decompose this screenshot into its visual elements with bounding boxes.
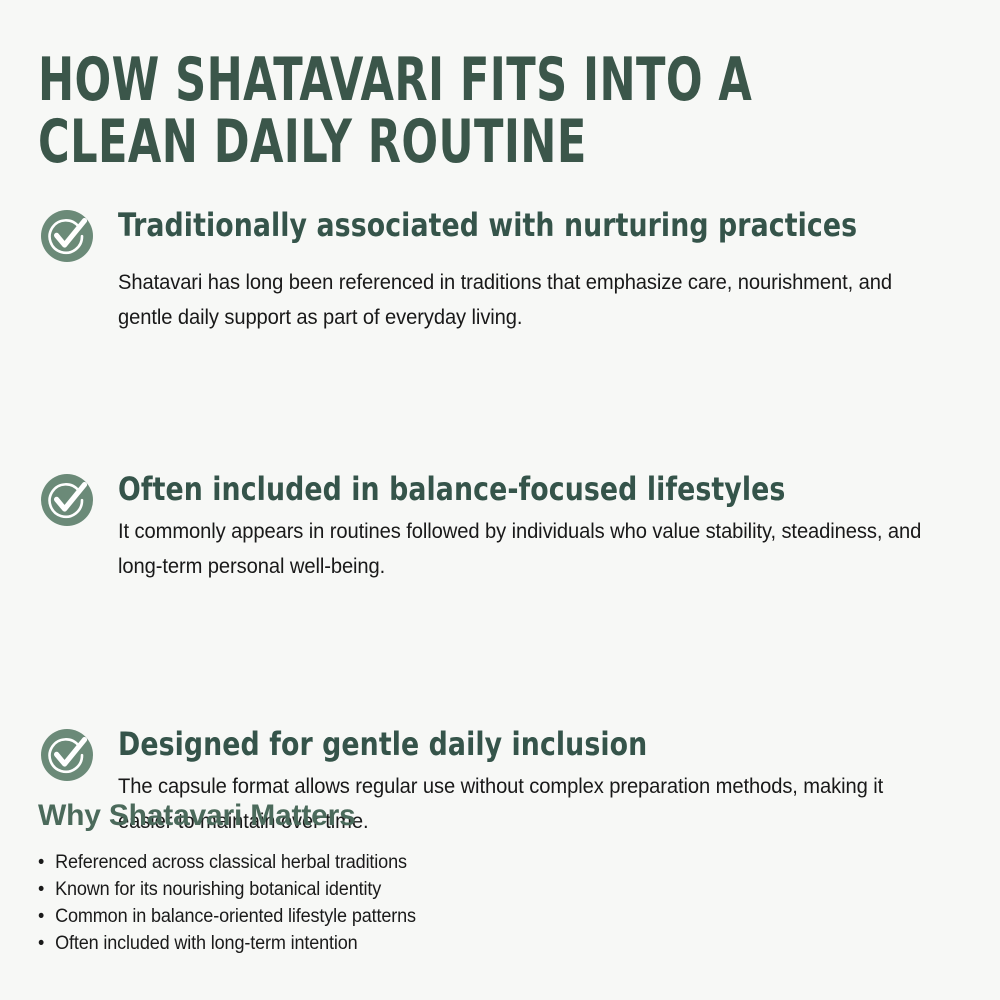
list-item: • Often included with long-term intentio… [38, 930, 893, 957]
bullet-icon: • [38, 849, 44, 876]
why-section: Why Shatavari Matters • Referenced acros… [38, 798, 938, 957]
why-bullet-list: • Referenced across classical herbal tra… [38, 849, 938, 957]
feature-heading: Designed for gentle daily inclusion [118, 725, 901, 763]
bullet-icon: • [38, 876, 44, 903]
feature-body: It commonly appears in routines followed… [118, 514, 926, 584]
list-item: • Known for its nourishing botanical ide… [38, 876, 893, 903]
check-circle-icon [40, 209, 94, 263]
infographic-page: HOW SHATAVARI FITS INTO A CLEAN DAILY RO… [0, 0, 1000, 1000]
feature-heading: Traditionally associated with nurturing … [118, 206, 901, 244]
why-section-title: Why Shatavari Matters [38, 798, 938, 834]
feature-heading: Often included in balance-focused lifest… [118, 470, 901, 508]
feature-item: Often included in balance-focused lifest… [0, 470, 1000, 584]
page-title: HOW SHATAVARI FITS INTO A CLEAN DAILY RO… [38, 49, 774, 173]
feature-list: Traditionally associated with nurturing … [0, 206, 1000, 839]
list-item: • Common in balance-oriented lifestyle p… [38, 903, 893, 930]
list-item-label: Common in balance-oriented lifestyle pat… [55, 906, 416, 927]
list-item-label: Referenced across classical herbal tradi… [55, 852, 407, 873]
check-circle-icon [40, 473, 94, 527]
bullet-icon: • [38, 930, 44, 957]
feature-body: Shatavari has long been referenced in tr… [118, 265, 926, 335]
check-circle-icon [40, 728, 94, 782]
list-item-label: Often included with long-term intention [55, 933, 357, 954]
bullet-icon: • [38, 903, 44, 930]
list-item: • Referenced across classical herbal tra… [38, 849, 893, 876]
list-item-label: Known for its nourishing botanical ident… [55, 879, 381, 900]
feature-item: Traditionally associated with nurturing … [0, 206, 1000, 335]
